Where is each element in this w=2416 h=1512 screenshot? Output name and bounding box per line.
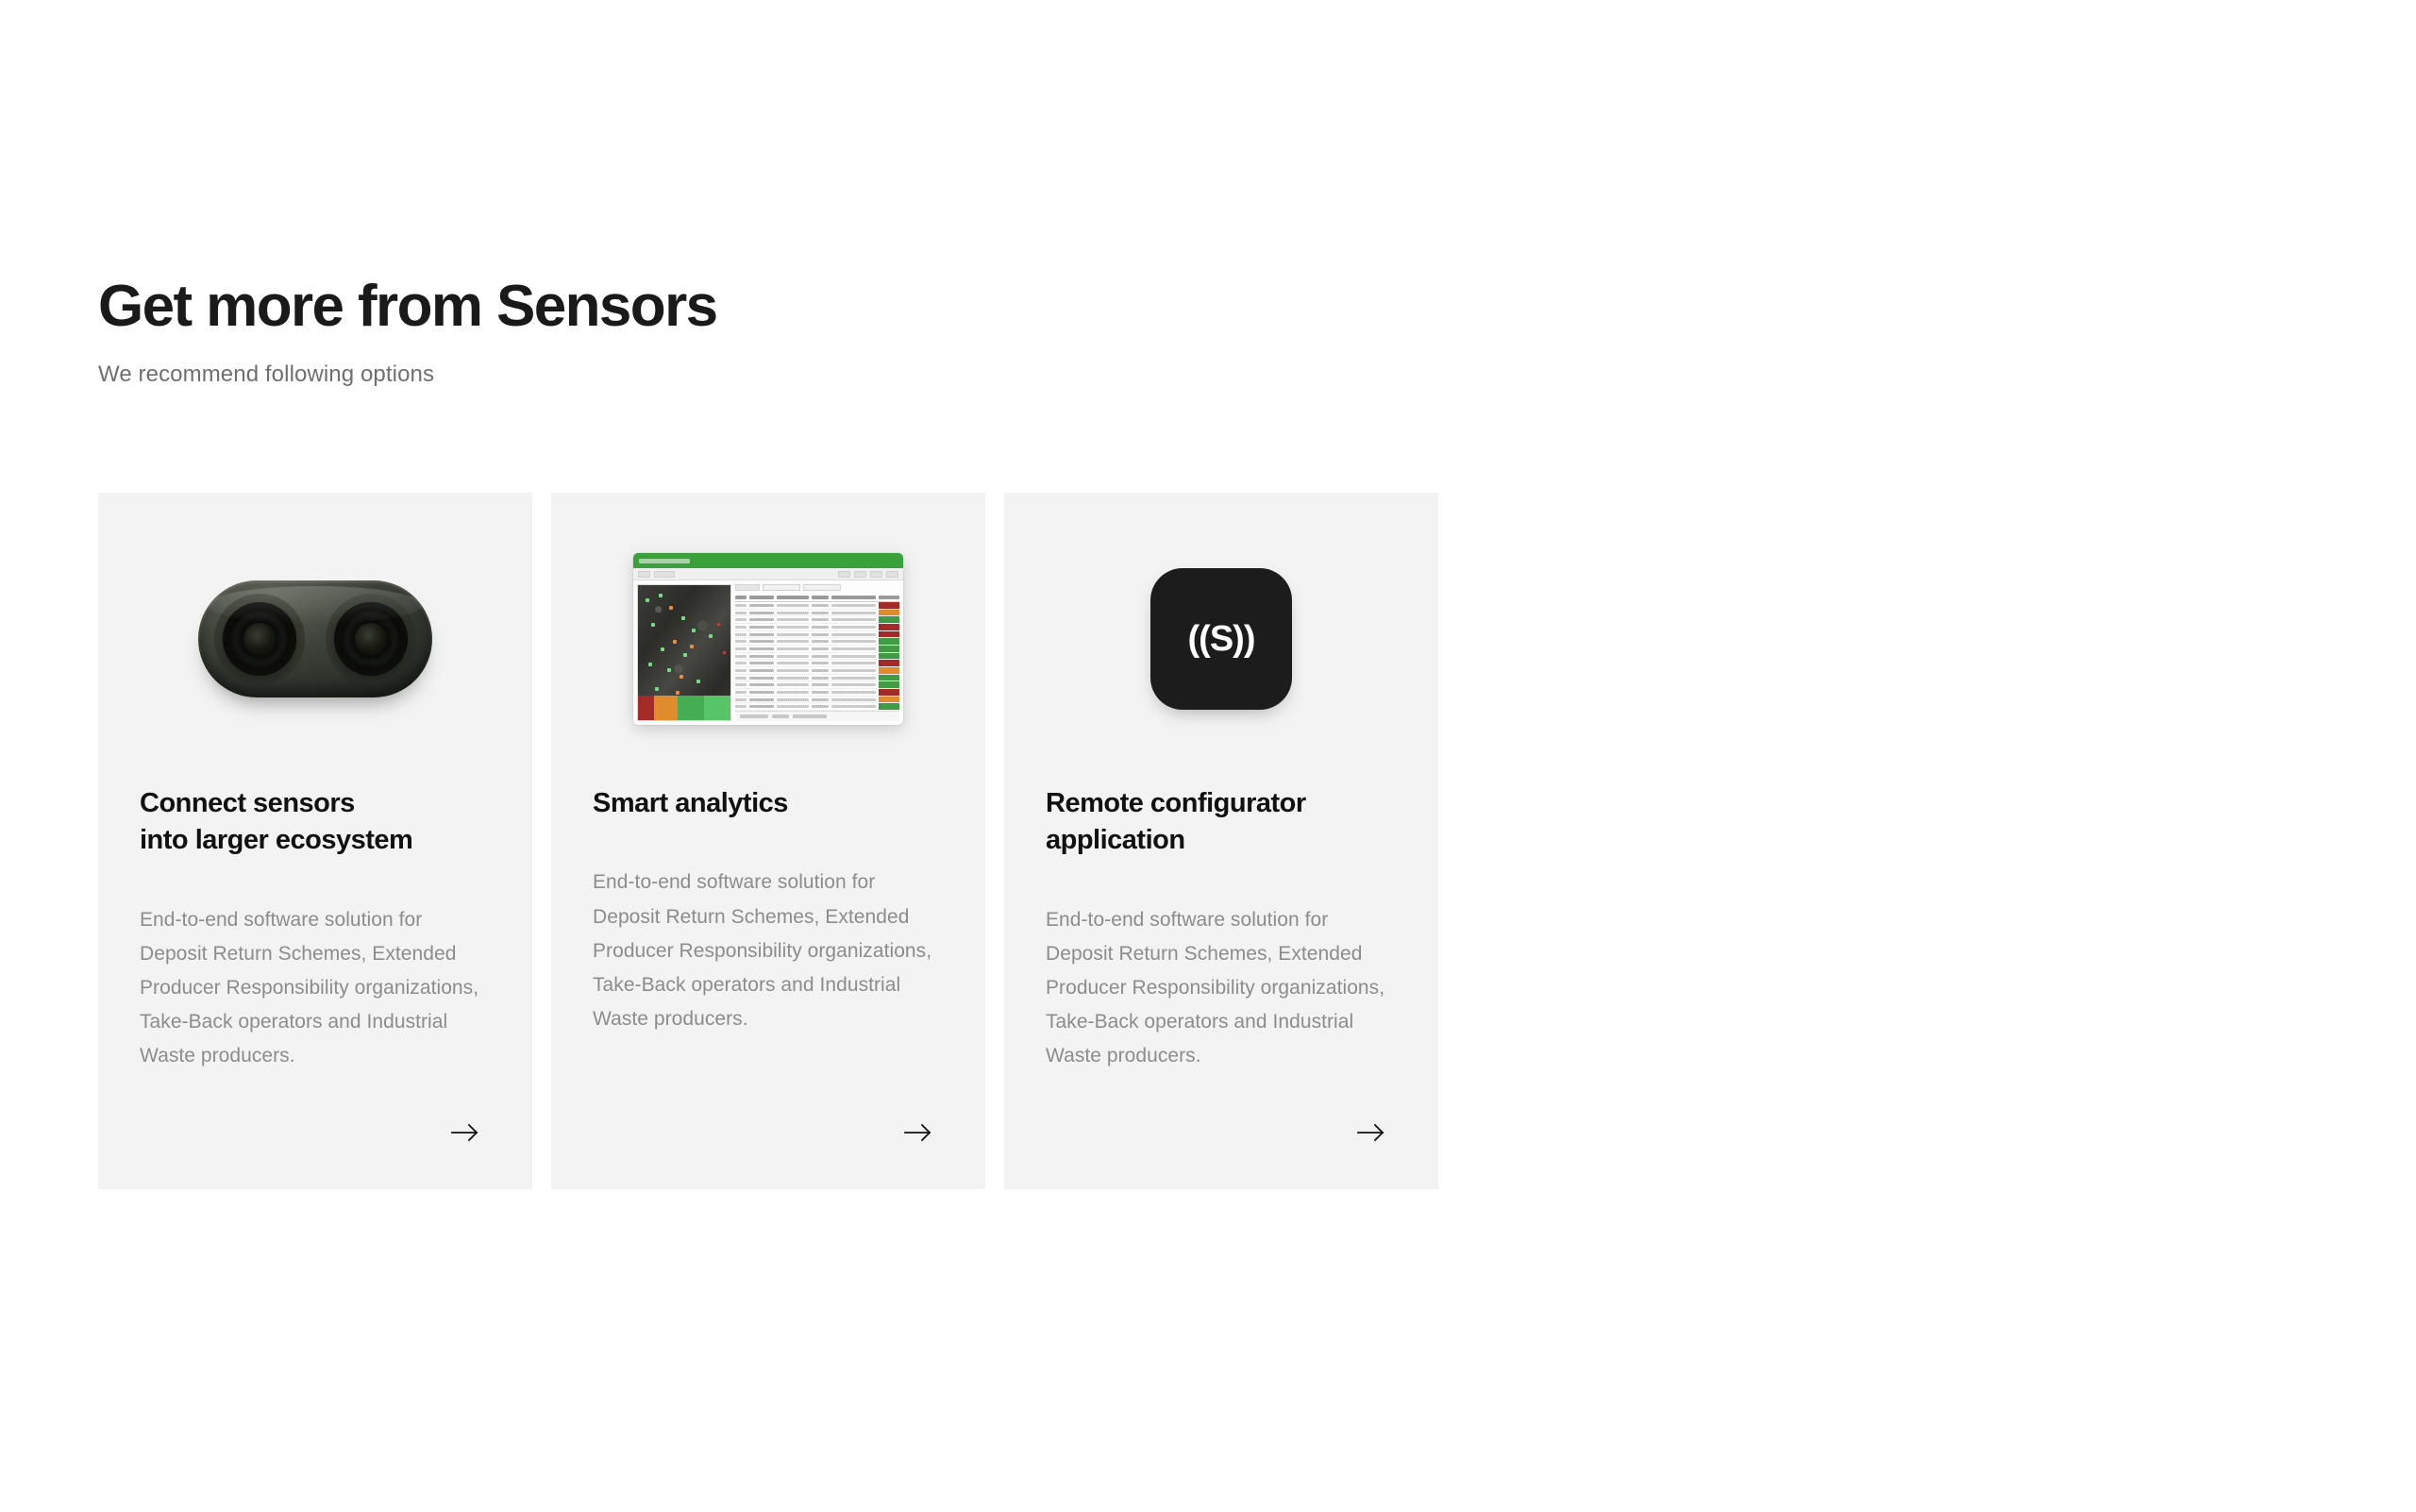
map-marker: [667, 668, 671, 672]
dashboard-main: [633, 580, 903, 725]
table-tabs: [735, 584, 899, 591]
status-cell: [879, 653, 899, 660]
card-title: Smart analytics: [593, 785, 944, 822]
map-marker: [717, 623, 720, 626]
legend-swatch-orange: [654, 696, 678, 720]
toolbar-chip: [654, 571, 675, 578]
toolbar-chip: [638, 571, 650, 578]
status-cell: [879, 631, 899, 638]
status-cell: [879, 689, 899, 696]
dashboard-data-table: [735, 584, 899, 721]
column-header: [812, 596, 829, 599]
table-row: [735, 689, 899, 697]
map-marker: [673, 640, 677, 644]
page-subtitle: We recommend following options: [98, 360, 1608, 389]
table-row: [735, 638, 899, 646]
toolbar-chip: [838, 571, 850, 578]
table-row: [735, 660, 899, 667]
card-description: End-to-end software solution for Deposit…: [593, 865, 944, 1036]
card-body: Connect sensors into larger ecosystem En…: [98, 785, 532, 1076]
status-cell: [879, 660, 899, 666]
table-row: [735, 616, 899, 624]
map-marker: [646, 598, 649, 602]
column-header: [749, 596, 774, 599]
map-marker: [676, 691, 679, 695]
card-connect-sensors[interactable]: Connect sensors into larger ecosystem En…: [98, 493, 532, 1189]
status-cell: [879, 675, 899, 681]
table-tab: [803, 584, 841, 591]
map-marker: [723, 651, 726, 654]
status-cell: [879, 703, 899, 710]
app-icon-label: ((S)): [1188, 619, 1255, 660]
card-link-button[interactable]: [897, 1111, 940, 1154]
toolbar-chip: [870, 571, 882, 578]
table-row: [735, 653, 899, 661]
card-media-sensor-device: [98, 493, 532, 785]
table-row: [735, 703, 899, 711]
card-smart-analytics[interactable]: Smart analytics End-to-end software solu…: [551, 493, 985, 1189]
status-cell: [879, 667, 899, 674]
map-marker: [659, 594, 663, 597]
card-link-button[interactable]: [444, 1111, 487, 1154]
status-cell: [879, 646, 899, 652]
column-header: [735, 596, 747, 599]
legend-swatch-red: [638, 696, 654, 720]
status-cell: [879, 602, 899, 609]
map-marker: [683, 653, 687, 657]
dashboard-title-placeholder: [639, 559, 690, 563]
table-row: [735, 602, 899, 610]
map-marker: [696, 680, 700, 683]
map-marker: [679, 675, 683, 679]
card-footer: [551, 1076, 985, 1189]
map-marker: [709, 634, 713, 638]
card-footer: [98, 1076, 532, 1189]
table-row: [735, 675, 899, 682]
card-body: Smart analytics End-to-end software solu…: [551, 785, 985, 1076]
table-row: [735, 610, 899, 617]
map-marker: [690, 645, 694, 648]
status-cell: [879, 616, 899, 623]
table-row: [735, 646, 899, 653]
arrow-right-icon: [451, 1122, 479, 1143]
arrow-right-icon: [1357, 1122, 1385, 1143]
card-link-button[interactable]: [1350, 1111, 1393, 1154]
legend-swatch-light-green: [704, 696, 730, 720]
table-header-row: [735, 593, 899, 602]
card-description: End-to-end software solution for Deposit…: [1046, 903, 1397, 1074]
map-legend: [638, 696, 730, 720]
remote-configurator-app-icon: ((S)): [1150, 568, 1292, 710]
dashboard-map-view: [637, 584, 731, 721]
column-header: [879, 596, 899, 599]
table-row: [735, 681, 899, 689]
table-row: [735, 667, 899, 675]
toolbar-chip: [886, 571, 898, 578]
sensor-device-icon: [198, 580, 432, 697]
column-header: [831, 596, 876, 599]
recommendation-cards: Connect sensors into larger ecosystem En…: [98, 493, 1438, 1189]
legend-swatch-green: [678, 696, 703, 720]
map-marker: [669, 606, 673, 610]
map-marker: [648, 663, 652, 666]
sensor-lens-left-icon: [223, 602, 296, 676]
card-remote-configurator[interactable]: ((S)) Remote configurator application En…: [1004, 493, 1438, 1189]
dashboard-toolbar: [633, 568, 903, 580]
map-marker: [661, 647, 664, 651]
analytics-dashboard-screenshot: [633, 553, 903, 725]
sensor-lens-right-icon: [334, 602, 408, 676]
table-row: [735, 631, 899, 639]
page-root: Get more from Sensors We recommend follo…: [0, 0, 2416, 1512]
card-body: Remote configurator application End-to-e…: [1004, 785, 1438, 1076]
status-cell: [879, 638, 899, 645]
card-media-app-icon: ((S)): [1004, 493, 1438, 785]
map-marker: [692, 629, 696, 632]
page-title: Get more from Sensors: [98, 276, 1608, 339]
status-cell: [879, 697, 899, 703]
status-cell: [879, 624, 899, 630]
table-rows: [735, 602, 899, 711]
section-header: Get more from Sensors We recommend follo…: [98, 276, 1608, 389]
map-marker: [651, 623, 655, 627]
table-footer: [735, 711, 899, 721]
column-header: [777, 596, 809, 599]
table-row: [735, 624, 899, 631]
status-cell: [879, 681, 899, 688]
table-tab: [763, 584, 800, 591]
dashboard-titlebar: [633, 553, 903, 568]
status-cell: [879, 610, 899, 616]
card-footer: [1004, 1076, 1438, 1189]
card-media-analytics-dashboard: [551, 493, 985, 785]
card-description: End-to-end software solution for Deposit…: [140, 903, 491, 1074]
card-title: Remote configurator application: [1046, 785, 1397, 860]
arrow-right-icon: [904, 1122, 932, 1143]
map-marker: [655, 687, 659, 691]
table-row: [735, 697, 899, 704]
toolbar-chip: [854, 571, 866, 578]
card-title: Connect sensors into larger ecosystem: [140, 785, 491, 860]
map-marker: [681, 616, 685, 620]
table-tab: [735, 584, 760, 591]
